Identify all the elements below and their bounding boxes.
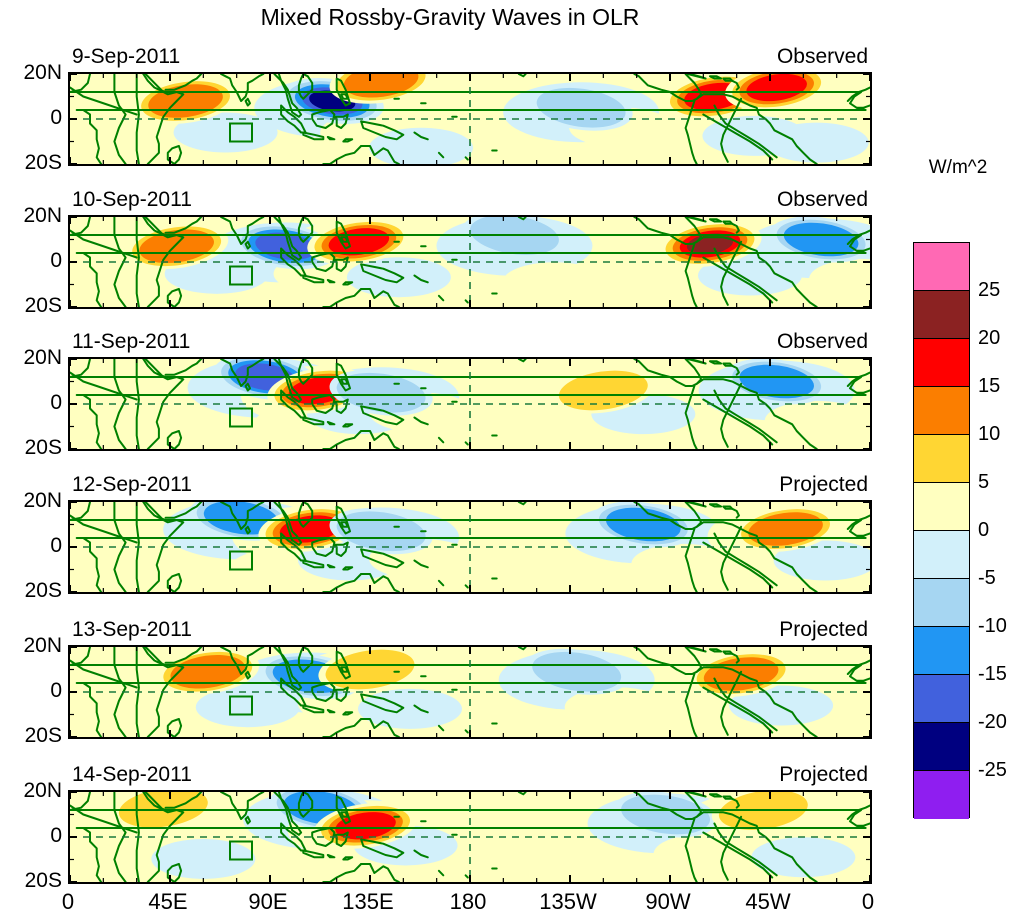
- y-axis-label: 20S: [25, 437, 62, 458]
- panel-status-label: Projected: [779, 618, 868, 642]
- map-plot-area: [68, 72, 872, 166]
- y-axis-label: 0: [50, 535, 62, 556]
- y-axis-label: 20S: [25, 152, 62, 173]
- panel-date-label: 10-Sep-2011: [72, 188, 192, 212]
- map-plot-area: [68, 645, 872, 739]
- panel-date-label: 11-Sep-2011: [72, 330, 190, 354]
- colorbar-band: [914, 579, 969, 627]
- colorbar-band: [914, 723, 969, 771]
- panel-date-label: 14-Sep-2011: [72, 763, 192, 787]
- panel-header: 9-Sep-2011Observed: [68, 45, 868, 71]
- panel-header: 10-Sep-2011Observed: [68, 188, 868, 214]
- x-axis-label: 180: [450, 889, 487, 915]
- colorbar-band: [914, 243, 969, 291]
- colorbar-tick-label: -15: [978, 664, 1007, 684]
- y-axis-label: 20N: [23, 490, 62, 511]
- colorbar-band: [914, 435, 969, 483]
- panel-header: 13-Sep-2011Projected: [68, 618, 868, 644]
- panel-status-label: Observed: [777, 330, 868, 354]
- colorbar-tick-label: 25: [978, 280, 1000, 300]
- colorbar-tick-label: -5: [978, 568, 996, 588]
- colorbar-tick-label: 10: [978, 424, 1000, 444]
- colorbar-tick-label: 5: [978, 472, 989, 492]
- map-plot-area: [68, 790, 872, 884]
- y-axis-label: 20N: [23, 780, 62, 801]
- colorbar: [913, 242, 970, 818]
- panel-date-label: 9-Sep-2011: [72, 45, 180, 69]
- x-axis-label: 135E: [342, 889, 393, 915]
- panel-date-label: 12-Sep-2011: [72, 473, 192, 497]
- panel-header: 12-Sep-2011Projected: [68, 473, 868, 499]
- colorbar-band: [914, 339, 969, 387]
- colorbar-tick-label: -20: [978, 712, 1007, 732]
- colorbar-unit-label: W/m^2: [913, 157, 1003, 179]
- colorbar-band: [914, 627, 969, 675]
- y-axis-label: 0: [50, 107, 62, 128]
- colorbar-tick-label: 0: [978, 520, 989, 540]
- panel-header: 11-Sep-2011Observed: [68, 330, 868, 356]
- colorbar-band: [914, 531, 969, 579]
- colorbar-tick-label: -10: [978, 616, 1007, 636]
- figure-title: Mixed Rossby-Gravity Waves in OLR: [0, 0, 900, 34]
- y-axis-label: 0: [50, 825, 62, 846]
- x-axis-label: 135W: [539, 889, 596, 915]
- map-plot-area: [68, 500, 872, 594]
- panel-status-label: Projected: [779, 473, 868, 497]
- y-axis-label: 20N: [23, 62, 62, 83]
- y-axis-label: 20S: [25, 295, 62, 316]
- y-axis-label: 20N: [23, 205, 62, 226]
- panel-status-label: Projected: [779, 763, 868, 787]
- colorbar-band: [914, 771, 969, 819]
- map-plot-area: [68, 215, 872, 309]
- colorbar-band: [914, 387, 969, 435]
- y-axis-label: 0: [50, 250, 62, 271]
- colorbar-band: [914, 291, 969, 339]
- panel-status-label: Observed: [777, 45, 868, 69]
- y-axis-label: 20N: [23, 347, 62, 368]
- x-axis-label: 45W: [745, 889, 790, 915]
- y-axis-label: 0: [50, 680, 62, 701]
- x-axis-label: 90W: [645, 889, 690, 915]
- y-axis-label: 20S: [25, 580, 62, 601]
- y-axis-label: 20S: [25, 870, 62, 891]
- figure-root: Mixed Rossby-Gravity Waves in OLR 20N020…: [0, 0, 1021, 924]
- x-axis: 045E90E135E180135W90W45W0: [0, 889, 1021, 923]
- x-axis-label: 0: [62, 889, 74, 915]
- panel-status-label: Observed: [777, 188, 868, 212]
- panel-header: 14-Sep-2011Projected: [68, 763, 868, 789]
- y-axis-label: 0: [50, 392, 62, 413]
- colorbar-tick-label: 20: [978, 328, 1000, 348]
- map-plot-area: [68, 357, 872, 451]
- x-axis-label: 0: [862, 889, 874, 915]
- colorbar-tick-label: 15: [978, 376, 1000, 396]
- colorbar-band: [914, 483, 969, 531]
- colorbar-tick-label: -25: [978, 760, 1007, 780]
- y-axis-label: 20N: [23, 635, 62, 656]
- colorbar-band: [914, 675, 969, 723]
- x-axis-label: 90E: [248, 889, 287, 915]
- panel-date-label: 13-Sep-2011: [72, 618, 192, 642]
- x-axis-label: 45E: [148, 889, 187, 915]
- y-axis-label: 20S: [25, 725, 62, 746]
